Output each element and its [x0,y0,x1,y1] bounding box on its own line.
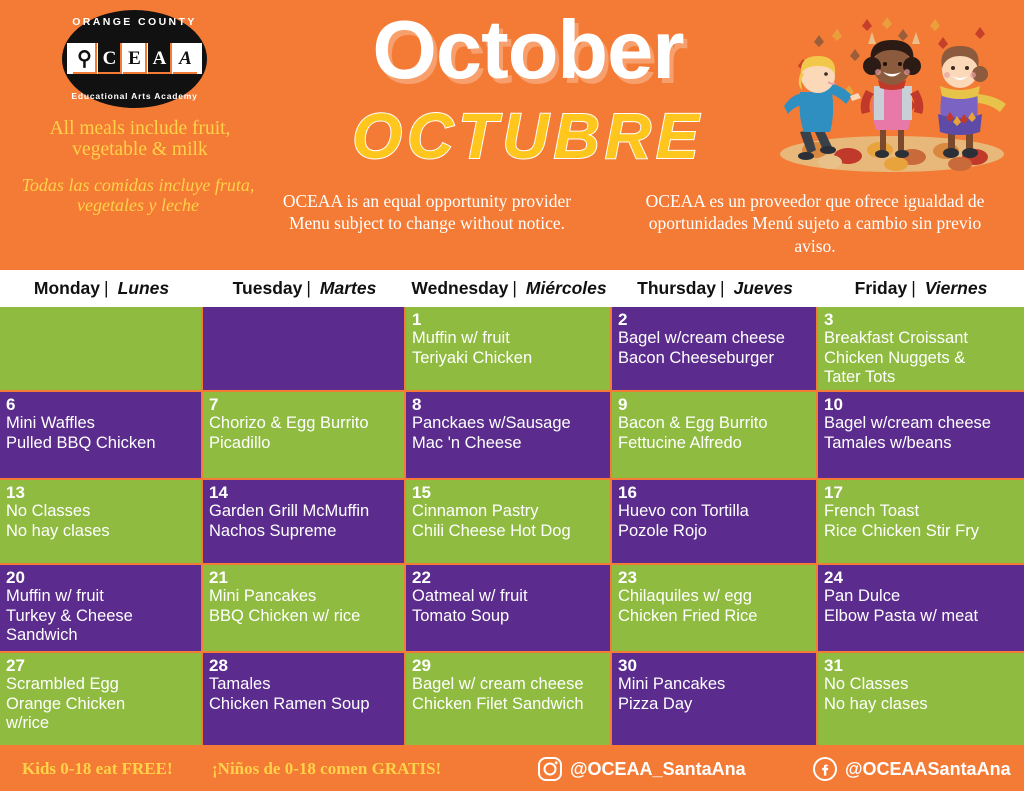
weekday-wednesday-es: Miércoles [526,278,607,299]
logo-top-text: ORANGE COUNTY [62,16,207,28]
menu-item: Mac 'n Cheese [412,434,606,453]
menu-item: Tomato Soup [412,607,606,626]
logo-letter-e: E [123,43,147,74]
menu-item: Picadillo [209,434,400,453]
menu-item: Bagel w/ cream cheese [412,675,606,694]
day-number: 22 [412,569,606,587]
day-number: 7 [209,396,400,414]
footer-bar: Kids 0-18 eat FREE! ¡Niños de 0-18 comen… [0,747,1024,791]
menu-item: Tamales [209,675,400,694]
day-number: 30 [618,657,812,675]
weekday-thursday-en: Thursday [637,278,716,299]
instagram-link[interactable]: @OCEAA_SantaAna [537,756,746,782]
menu-item: Elbow Pasta w/ meat [824,607,1020,626]
day-number: 24 [824,569,1020,587]
calendar-day-8: 8Panckaes w/SausageMac 'n Cheese [406,392,612,480]
menu-item: Chili Cheese Hot Dog [412,522,606,541]
weekday-header-friday: Friday | Viernes [818,270,1024,307]
day-number: 21 [209,569,400,587]
menu-item: Sandwich [6,626,197,645]
calendar-day-29: 29Bagel w/ cream cheeseChicken Filet San… [406,653,612,747]
menu-item: Muffin w/ fruit [6,587,197,606]
weekday-header-wednesday: Wednesday | Miércoles [406,270,612,307]
calendar-day-14: 14Garden Grill McMuffinNachos Supreme [203,480,406,565]
logo-letter-a2: A [173,43,197,74]
calendar-day-6: 6Mini WafflesPulled BBQ Chicken [0,392,203,480]
weekday-wednesday-en: Wednesday [411,278,508,299]
weekday-friday-en: Friday [855,278,908,299]
menu-item: Chicken Filet Sandwich [412,695,606,714]
menu-item: Nachos Supreme [209,522,400,541]
menu-item: Mini Pancakes [618,675,812,694]
menu-item: Tamales w/beans [824,434,1020,453]
disclaimer-english: OCEAA is an equal opportunity provider M… [262,190,592,235]
day-number: 3 [824,311,1020,329]
menu-item: Turkey & Cheese [6,607,197,626]
calendar-day-20: 20Muffin w/ fruitTurkey & CheeseSandwich [0,565,203,653]
calendar-day-16: 16Huevo con TortillaPozole Rojo [612,480,818,565]
menu-item: Breakfast Croissant [824,329,1020,348]
menu-item: Huevo con Tortilla [618,502,812,521]
logo-bottom-text: Educational Arts Academy [62,91,207,101]
kids-eat-free-spanish: ¡Niños de 0-18 comen GRATIS! [212,759,441,779]
weekday-friday-es: Viernes [925,278,988,299]
menu-item: No hay clases [6,522,197,541]
weekday-header-thursday: Thursday | Jueves [612,270,818,307]
menu-item: Pulled BBQ Chicken [6,434,197,453]
calendar-week-row: 13No ClassesNo hay clases14Garden Grill … [0,480,1024,565]
day-number: 28 [209,657,400,675]
weekday-header-monday: Monday | Lunes [0,270,203,307]
calendar-week-row: 6Mini WafflesPulled BBQ Chicken7Chorizo … [0,392,1024,480]
menu-item: Fettucine Alfredo [618,434,812,453]
month-title-spanish: OCTUBRE [318,104,738,168]
facebook-icon [812,756,838,782]
day-number: 2 [618,311,812,329]
calendar-day-2: 2Bagel w/cream cheeseBacon Cheeseburger [612,307,818,392]
meal-note-spanish: Todas las comidas incluye fruta, vegetal… [10,176,266,216]
month-title-english: October [318,8,738,91]
facebook-handle: @OCEAASantaAna [845,759,1011,780]
children-autumn-leaves-illustration [770,14,1015,174]
day-number: 13 [6,484,197,502]
weekday-thursday-es: Jueves [733,278,792,299]
calendar-day-21: 21Mini PancakesBBQ Chicken w/ rice [203,565,406,653]
calendar-day-empty [203,307,406,392]
menu-item: Bagel w/cream cheese [618,329,812,348]
menu-item: Mini Waffles [6,414,197,433]
menu-item: Pozole Rojo [618,522,812,541]
menu-item: Cinnamon Pastry [412,502,606,521]
menu-item: French Toast [824,502,1020,521]
day-number: 16 [618,484,812,502]
day-number: 14 [209,484,400,502]
menu-item: Chicken Ramen Soup [209,695,400,714]
day-number: 20 [6,569,197,587]
weekday-friday-separator: | [911,278,916,299]
weekday-tuesday-es: Martes [320,278,376,299]
menu-item: No hay clases [824,695,1020,714]
weekday-monday-es: Lunes [118,278,170,299]
weekday-wednesday-separator: | [512,278,517,299]
day-number: 15 [412,484,606,502]
menu-item: Chilaquiles w/ egg [618,587,812,606]
logo-spiral-icon: ⚲ [73,43,97,74]
weekday-header-row: Monday | Lunes Tuesday | Martes Wednesda… [0,270,1024,307]
logo-letters: ⚲ C E A A [67,43,202,74]
menu-item: No Classes [824,675,1020,694]
menu-item: Chorizo & Egg Burrito [209,414,400,433]
menu-item: Garden Grill McMuffin [209,502,400,521]
calendar-day-10: 10Bagel w/cream cheeseTamales w/beans [818,392,1024,480]
calendar-day-15: 15Cinnamon PastryChili Cheese Hot Dog [406,480,612,565]
day-number: 31 [824,657,1020,675]
menu-item: Bacon & Egg Burrito [618,414,812,433]
calendar-day-empty [0,307,203,392]
day-number: 6 [6,396,197,414]
calendar-day-30: 30Mini PancakesPizza Day [612,653,818,747]
calendar-day-9: 9Bacon & Egg BurritoFettucine Alfredo [612,392,818,480]
weekday-tuesday-en: Tuesday [233,278,303,299]
calendar-day-17: 17French ToastRice Chicken Stir Fry [818,480,1024,565]
calendar-day-24: 24Pan DulceElbow Pasta w/ meat [818,565,1024,653]
instagram-icon [537,756,563,782]
calendar-day-1: 1Muffin w/ fruitTeriyaki Chicken [406,307,612,392]
day-number: 9 [618,396,812,414]
calendar-day-27: 27Scrambled EggOrange Chickenw/rice [0,653,203,747]
logo-letter-c: C [98,43,122,74]
menu-item: Bacon Cheeseburger [618,349,812,368]
day-number: 27 [6,657,197,675]
calendar-day-28: 28TamalesChicken Ramen Soup [203,653,406,747]
menu-item: Rice Chicken Stir Fry [824,522,1020,541]
disclaimer-spanish: OCEAA es un proveedor que ofrece igualda… [630,190,1000,257]
calendar-day-23: 23Chilaquiles w/ eggChicken Fried Rice [612,565,818,653]
menu-item: Bagel w/cream cheese [824,414,1020,433]
calendar-week-row: 1Muffin w/ fruitTeriyaki Chicken2Bagel w… [0,307,1024,392]
calendar-day-7: 7Chorizo & Egg BurritoPicadillo [203,392,406,480]
day-number: 23 [618,569,812,587]
day-number: 17 [824,484,1020,502]
weekday-header-tuesday: Tuesday | Martes [203,270,406,307]
menu-item: Teriyaki Chicken [412,349,606,368]
calendar-day-13: 13No ClassesNo hay clases [0,480,203,565]
menu-item: Chicken Nuggets & [824,349,1020,368]
oceaa-logo: ORANGE COUNTY ⚲ C E A A Educational Arts… [62,10,207,108]
calendar-grid: 1Muffin w/ fruitTeriyaki Chicken2Bagel w… [0,307,1024,747]
calendar-day-3: 3Breakfast CroissantChicken Nuggets &Tat… [818,307,1024,392]
menu-item: Pizza Day [618,695,812,714]
calendar-day-31: 31No ClassesNo hay clases [818,653,1024,747]
menu-item: Orange Chicken [6,695,197,714]
meal-note-english: All meals include fruit, vegetable & mil… [16,118,264,160]
day-number: 29 [412,657,606,675]
kids-eat-free-english: Kids 0-18 eat FREE! [22,759,173,779]
menu-item: No Classes [6,502,197,521]
day-number: 8 [412,396,606,414]
calendar-day-22: 22Oatmeal w/ fruitTomato Soup [406,565,612,653]
menu-item: Mini Pancakes [209,587,400,606]
menu-item: Scrambled Egg [6,675,197,694]
weekday-monday-separator: | [104,278,109,299]
day-number: 10 [824,396,1020,414]
menu-item: Muffin w/ fruit [412,329,606,348]
menu-item: Tater Tots [824,368,1020,387]
calendar-week-row: 27Scrambled EggOrange Chickenw/rice28Tam… [0,653,1024,747]
header-banner: ORANGE COUNTY ⚲ C E A A Educational Arts… [0,0,1024,270]
menu-item: Oatmeal w/ fruit [412,587,606,606]
menu-item: BBQ Chicken w/ rice [209,607,400,626]
menu-calendar-page: ORANGE COUNTY ⚲ C E A A Educational Arts… [0,0,1024,791]
weekday-tuesday-separator: | [306,278,311,299]
weekday-monday-en: Monday [34,278,100,299]
logo-letter-a1: A [148,43,172,74]
menu-item: Panckaes w/Sausage [412,414,606,433]
menu-item: Pan Dulce [824,587,1020,606]
day-number: 1 [412,311,606,329]
instagram-handle: @OCEAA_SantaAna [570,759,746,780]
facebook-link[interactable]: @OCEAASantaAna [812,756,1011,782]
calendar-week-row: 20Muffin w/ fruitTurkey & CheeseSandwich… [0,565,1024,653]
weekday-thursday-separator: | [720,278,725,299]
menu-item: Chicken Fried Rice [618,607,812,626]
menu-item: w/rice [6,714,197,733]
